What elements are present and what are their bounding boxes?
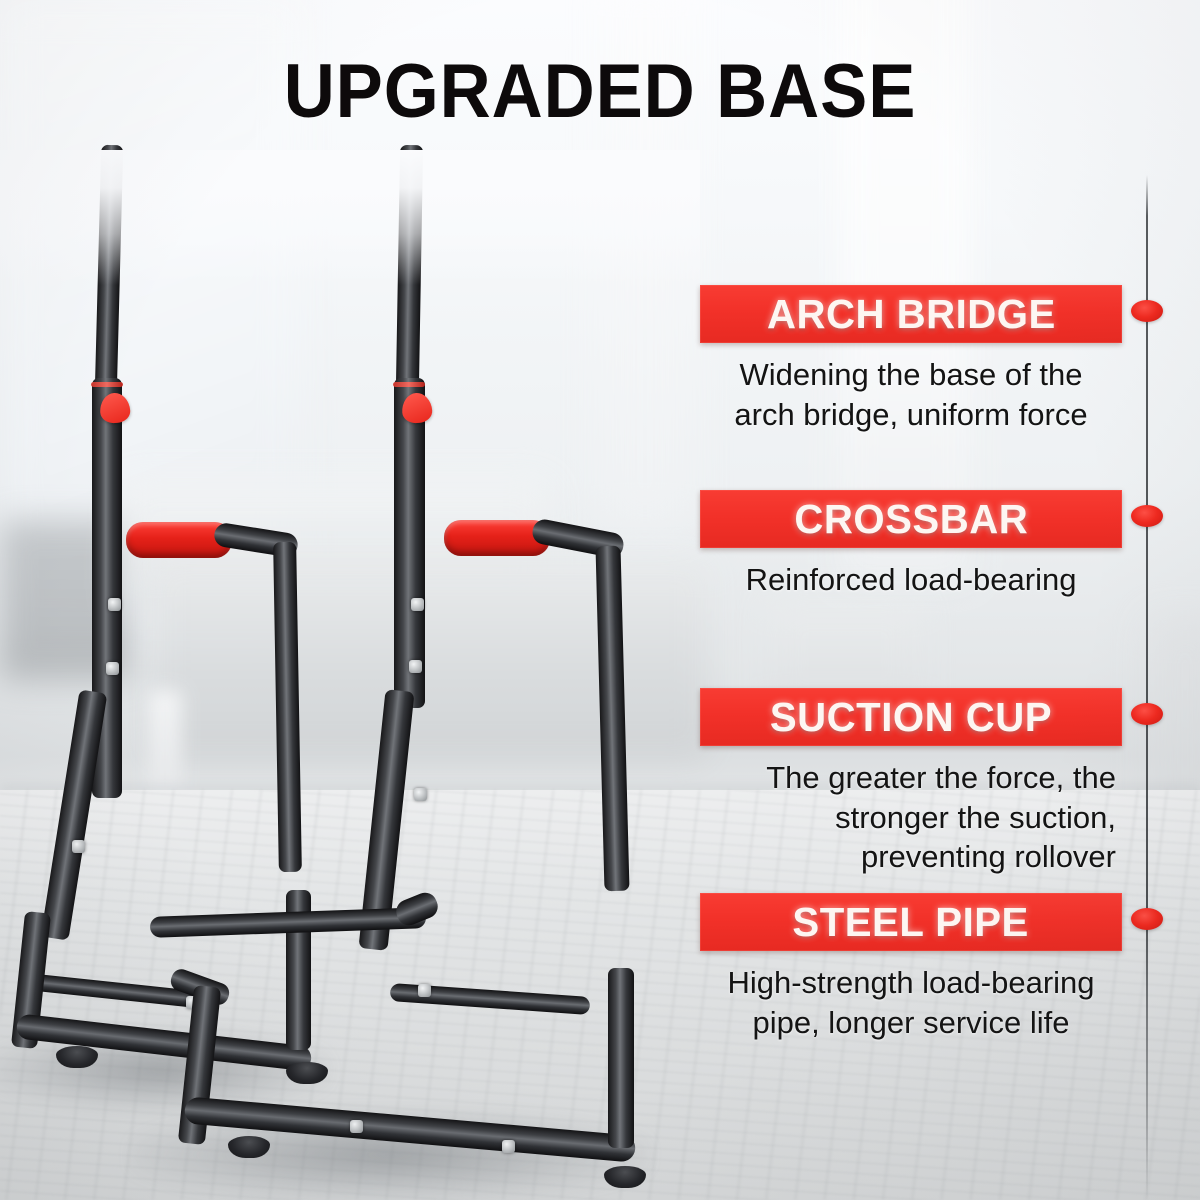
upgraded-base-infographic: UPGRADED BASE <box>0 0 1200 1200</box>
connector-dot-steel-pipe <box>1131 908 1163 930</box>
feature-label: CROSSBAR <box>794 496 1028 543</box>
feature-label: ARCH BRIDGE <box>767 291 1056 338</box>
feature-arch-bridge[interactable]: ARCH BRIDGE Widening the base of thearch… <box>700 285 1122 434</box>
connector-dot-crossbar <box>1131 505 1163 527</box>
connector-spine-line <box>1146 175 1148 1200</box>
feature-banner-suction-cup: SUCTION CUP <box>700 688 1122 746</box>
connector-dot-arch-bridge <box>1131 300 1163 322</box>
feature-label: STEEL PIPE <box>793 899 1029 946</box>
feature-description: Widening the base of thearch bridge, uni… <box>700 355 1122 434</box>
feature-description: High-strength load-bearingpipe, longer s… <box>700 963 1122 1042</box>
feature-banner-crossbar: CROSSBAR <box>700 490 1122 548</box>
connector-dot-suction-cup <box>1131 703 1163 725</box>
feature-banner-steel-pipe: STEEL PIPE <box>700 893 1122 951</box>
feature-steel-pipe[interactable]: STEEL PIPE High-strength load-bearingpip… <box>700 893 1122 1042</box>
feature-description: The greater the force, thestronger the s… <box>700 758 1122 877</box>
feature-callout-column: ARCH BRIDGE Widening the base of thearch… <box>0 0 1200 1200</box>
feature-crossbar[interactable]: CROSSBAR Reinforced load-bearing <box>700 490 1122 600</box>
feature-description: Reinforced load-bearing <box>700 560 1122 600</box>
feature-banner-arch-bridge: ARCH BRIDGE <box>700 285 1122 343</box>
feature-label: SUCTION CUP <box>770 694 1052 741</box>
feature-suction-cup[interactable]: SUCTION CUP The greater the force, thest… <box>700 688 1122 877</box>
